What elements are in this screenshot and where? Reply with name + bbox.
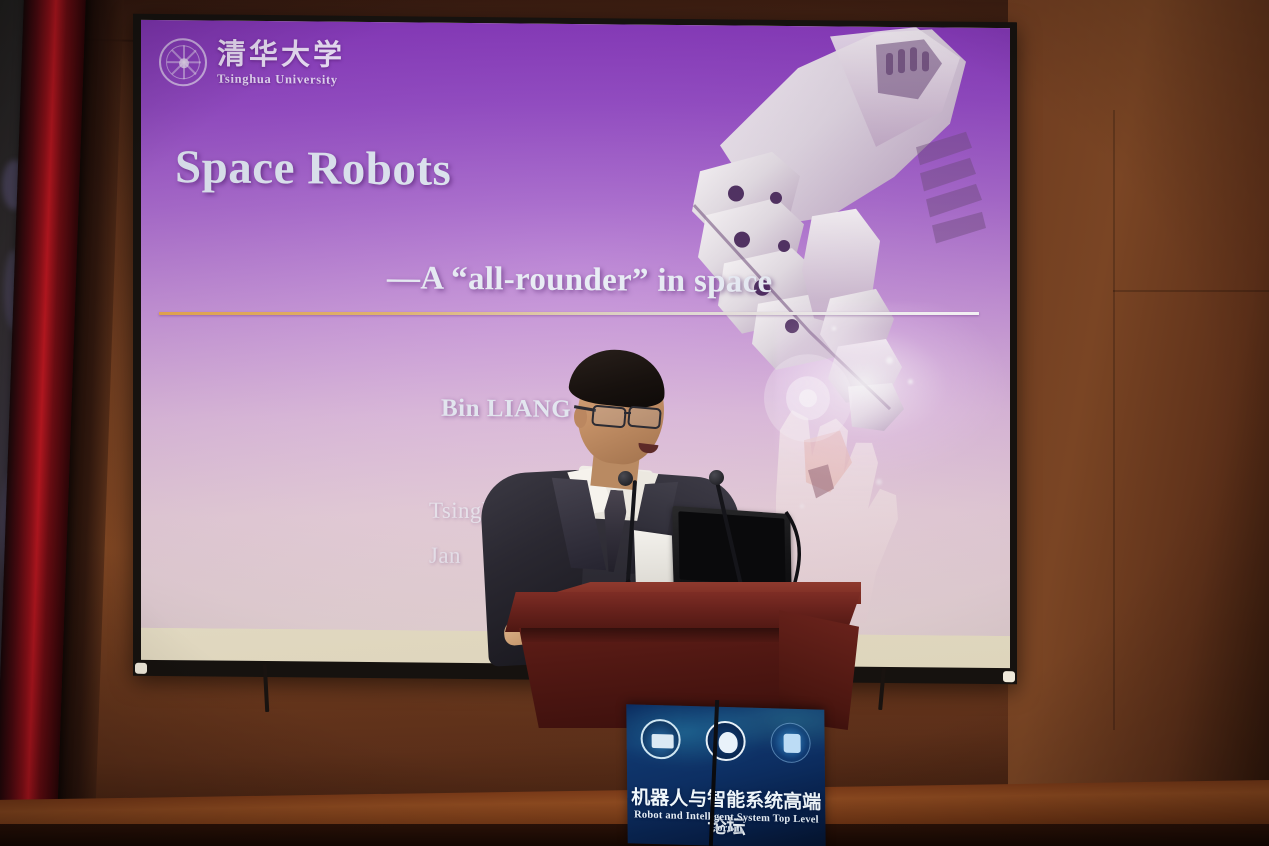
forum-banner: 机器人与智能系统高端论坛 Robot and Intelligent Syste… bbox=[626, 704, 825, 846]
wall-seam-vertical bbox=[1113, 110, 1115, 730]
forum-logo-left-icon bbox=[640, 719, 680, 760]
tsinghua-logo: 清华大学 Tsinghua University bbox=[159, 38, 345, 88]
university-name-en: Tsinghua University bbox=[217, 71, 345, 87]
scene-root: 清华大学 Tsinghua University Space Robots —A… bbox=[0, 0, 1269, 846]
slide-divider-rule bbox=[159, 312, 979, 315]
banner-logo-row bbox=[640, 719, 810, 764]
forum-logo-right-icon bbox=[770, 722, 810, 763]
eyeglasses-left-lens bbox=[591, 405, 627, 429]
slide-subtitle: —A “all-rounder” in space bbox=[387, 260, 773, 301]
microphone-head-right bbox=[709, 470, 724, 485]
slide-title: Space Robots bbox=[175, 140, 451, 197]
screen-endcap-left bbox=[135, 663, 147, 674]
slide-date: Jan bbox=[429, 543, 461, 569]
flare-glow bbox=[776, 302, 1006, 479]
microphone-head-left bbox=[618, 471, 633, 486]
forum-logo-center-icon bbox=[705, 720, 745, 761]
tsinghua-seal-icon bbox=[159, 38, 207, 86]
eyeglasses-bridge bbox=[624, 412, 631, 414]
wall-seam-horizontal bbox=[1113, 290, 1269, 292]
screen-endcap-right bbox=[1003, 671, 1015, 682]
right-wall-panel bbox=[1008, 0, 1269, 846]
university-name-cn: 清华大学 bbox=[217, 39, 345, 71]
eyeglasses-right-lens bbox=[627, 406, 662, 430]
